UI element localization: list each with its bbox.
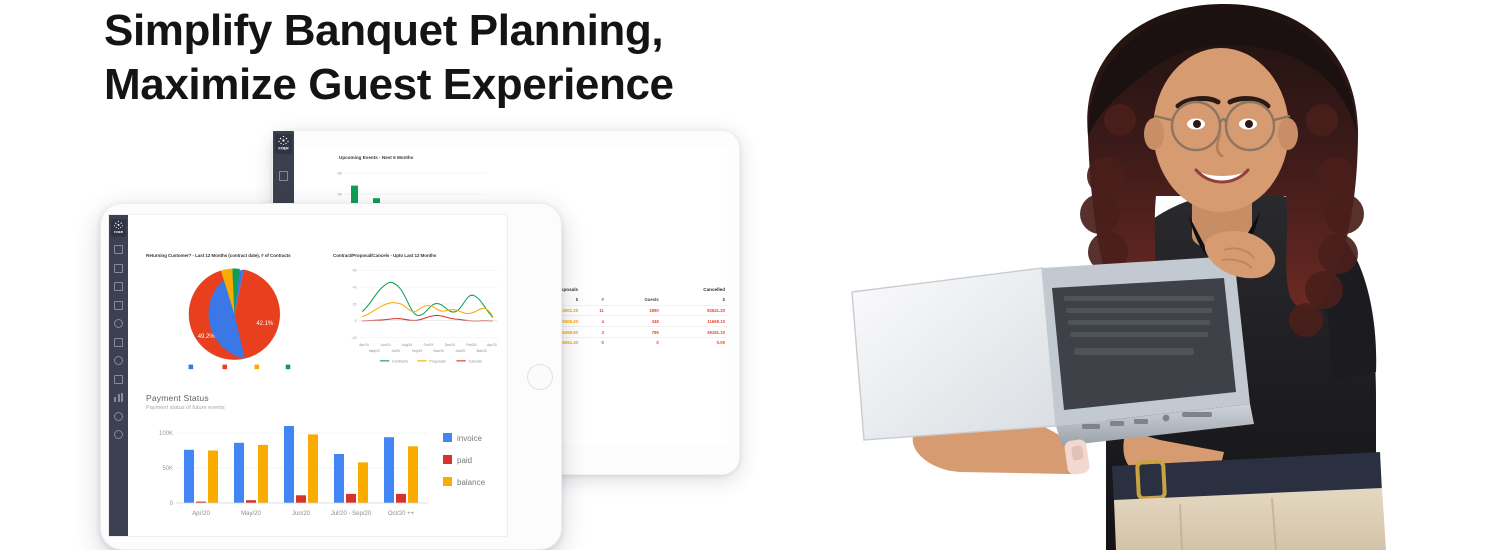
line-legend: Contracts Proposals Cancels (380, 359, 482, 363)
svg-text:Apr/20: Apr/20 (487, 343, 497, 347)
svg-text:50K: 50K (162, 466, 173, 472)
front-tablet-device: FXIER (100, 203, 562, 550)
col-count-3: # (580, 295, 606, 305)
svg-text:Jun/19: Jun/19 (381, 343, 391, 347)
svg-text:Oct/19: Oct/19 (424, 343, 434, 347)
front-screen-content: FXIER (108, 214, 508, 537)
svg-text:Mar/20: Mar/20 (477, 349, 487, 353)
hero-section: Simplify Banquet Planning, Maximize Gues… (0, 0, 1500, 550)
app-sidebar[interactable]: FXIER (109, 215, 128, 536)
returning-customer-chart: Returning Customer? - Last 12 Months (co… (146, 253, 331, 388)
svg-text:Jan/20: Jan/20 (455, 349, 465, 353)
device-mockup-group: FXIER Upcoming Events - Next 6 Months (100, 125, 740, 550)
svg-text:0: 0 (355, 319, 357, 323)
svg-text:40: 40 (353, 286, 357, 290)
calendar-icon[interactable] (114, 264, 123, 273)
svg-text:Proposals: Proposals (429, 359, 446, 363)
group-cancelled: Cancelled (580, 285, 727, 295)
svg-text:-20: -20 (351, 336, 356, 340)
home-button[interactable] (527, 364, 553, 390)
svg-text:Apr/20: Apr/20 (192, 511, 210, 517)
pie-svg: 42.1% 49.2% (146, 261, 331, 371)
grid-icon[interactable] (279, 171, 288, 181)
contract-trend-title: Contract/Proposal/Cancels - Upto Last 12… (333, 253, 508, 259)
svg-text:Cancels: Cancels (469, 359, 483, 363)
svg-text:FXIER: FXIER (114, 230, 124, 234)
svg-text:invoice: invoice (457, 434, 482, 443)
brand-logo-icon: FXIER (111, 219, 126, 237)
payment-legend: invoice paid balance (443, 433, 486, 487)
settings-icon[interactable] (114, 412, 123, 421)
svg-text:Sep/19: Sep/19 (412, 349, 422, 353)
svg-text:Jun/20: Jun/20 (292, 511, 311, 517)
returning-customer-title: Returning Customer? - Last 12 Months (co… (146, 253, 331, 259)
upload-icon[interactable] (114, 338, 123, 347)
svg-text:Jul/20 - Sep/20: Jul/20 - Sep/20 (331, 511, 372, 517)
svg-text:60: 60 (338, 192, 343, 197)
svg-text:20: 20 (353, 302, 357, 306)
sidebar-nav[interactable] (109, 245, 128, 449)
payment-status-header: Payment Status Payment status of future … (146, 393, 225, 411)
broadcast-icon[interactable] (114, 301, 123, 310)
svg-text:balance: balance (457, 478, 486, 487)
pie-legend (189, 365, 291, 370)
analytics-icon[interactable] (114, 393, 123, 402)
svg-text:Apr/19: Apr/19 (359, 343, 369, 347)
megaphone-icon[interactable] (114, 282, 123, 291)
svg-text:Dec/19: Dec/19 (445, 343, 455, 347)
pie-label-red: 49.2% (198, 334, 216, 340)
svg-text:May/20: May/20 (241, 511, 261, 517)
contract-proposal-cancels-chart: Contract/Proposal/Cancels - Upto Last 12… (333, 253, 508, 388)
svg-text:60: 60 (353, 269, 357, 273)
line-svg: 6040 200 -20 Apr/ (333, 261, 508, 373)
brand-logo-icon: FXIER (275, 134, 292, 154)
svg-text:Feb/20: Feb/20 (466, 343, 476, 347)
payment-status-title: Payment Status (146, 393, 225, 403)
person-icon[interactable] (114, 356, 123, 365)
svg-text:100K: 100K (159, 431, 173, 437)
svg-text:paid: paid (457, 456, 472, 465)
clock-icon[interactable] (114, 319, 123, 328)
col-amount-3: $ (661, 295, 727, 305)
upcoming-events-title: Upcoming Events - Next 6 Months (339, 155, 413, 160)
svg-text:FXIER: FXIER (278, 147, 289, 151)
svg-text:Oct/20 ++: Oct/20 ++ (388, 511, 415, 517)
svg-text:Jul/19: Jul/19 (391, 349, 400, 353)
hero-person-photo (820, 0, 1500, 550)
laptop (852, 256, 1254, 446)
headline-line-2: Maximize Guest Experience (104, 58, 864, 112)
headline-line-1: Simplify Banquet Planning, (104, 6, 663, 55)
pie-label-blue: 42.1% (256, 321, 274, 327)
help-icon[interactable] (114, 430, 123, 439)
svg-text:Aug/19: Aug/19 (402, 343, 412, 347)
svg-text:Contracts: Contracts (392, 359, 408, 363)
payment-status-subtitle: Payment status of future events (146, 405, 225, 411)
payment-status-chart: 100K50K0 (138, 415, 508, 525)
svg-text:0: 0 (170, 501, 174, 507)
svg-text:May/19: May/19 (369, 349, 380, 353)
svg-text:80: 80 (338, 171, 343, 176)
grid-icon[interactable] (114, 245, 123, 254)
page-title: Simplify Banquet Planning, Maximize Gues… (104, 0, 864, 112)
document-icon[interactable] (114, 375, 123, 384)
col-guests-3: Guests (606, 295, 661, 305)
svg-text:Nov/19: Nov/19 (434, 349, 444, 353)
